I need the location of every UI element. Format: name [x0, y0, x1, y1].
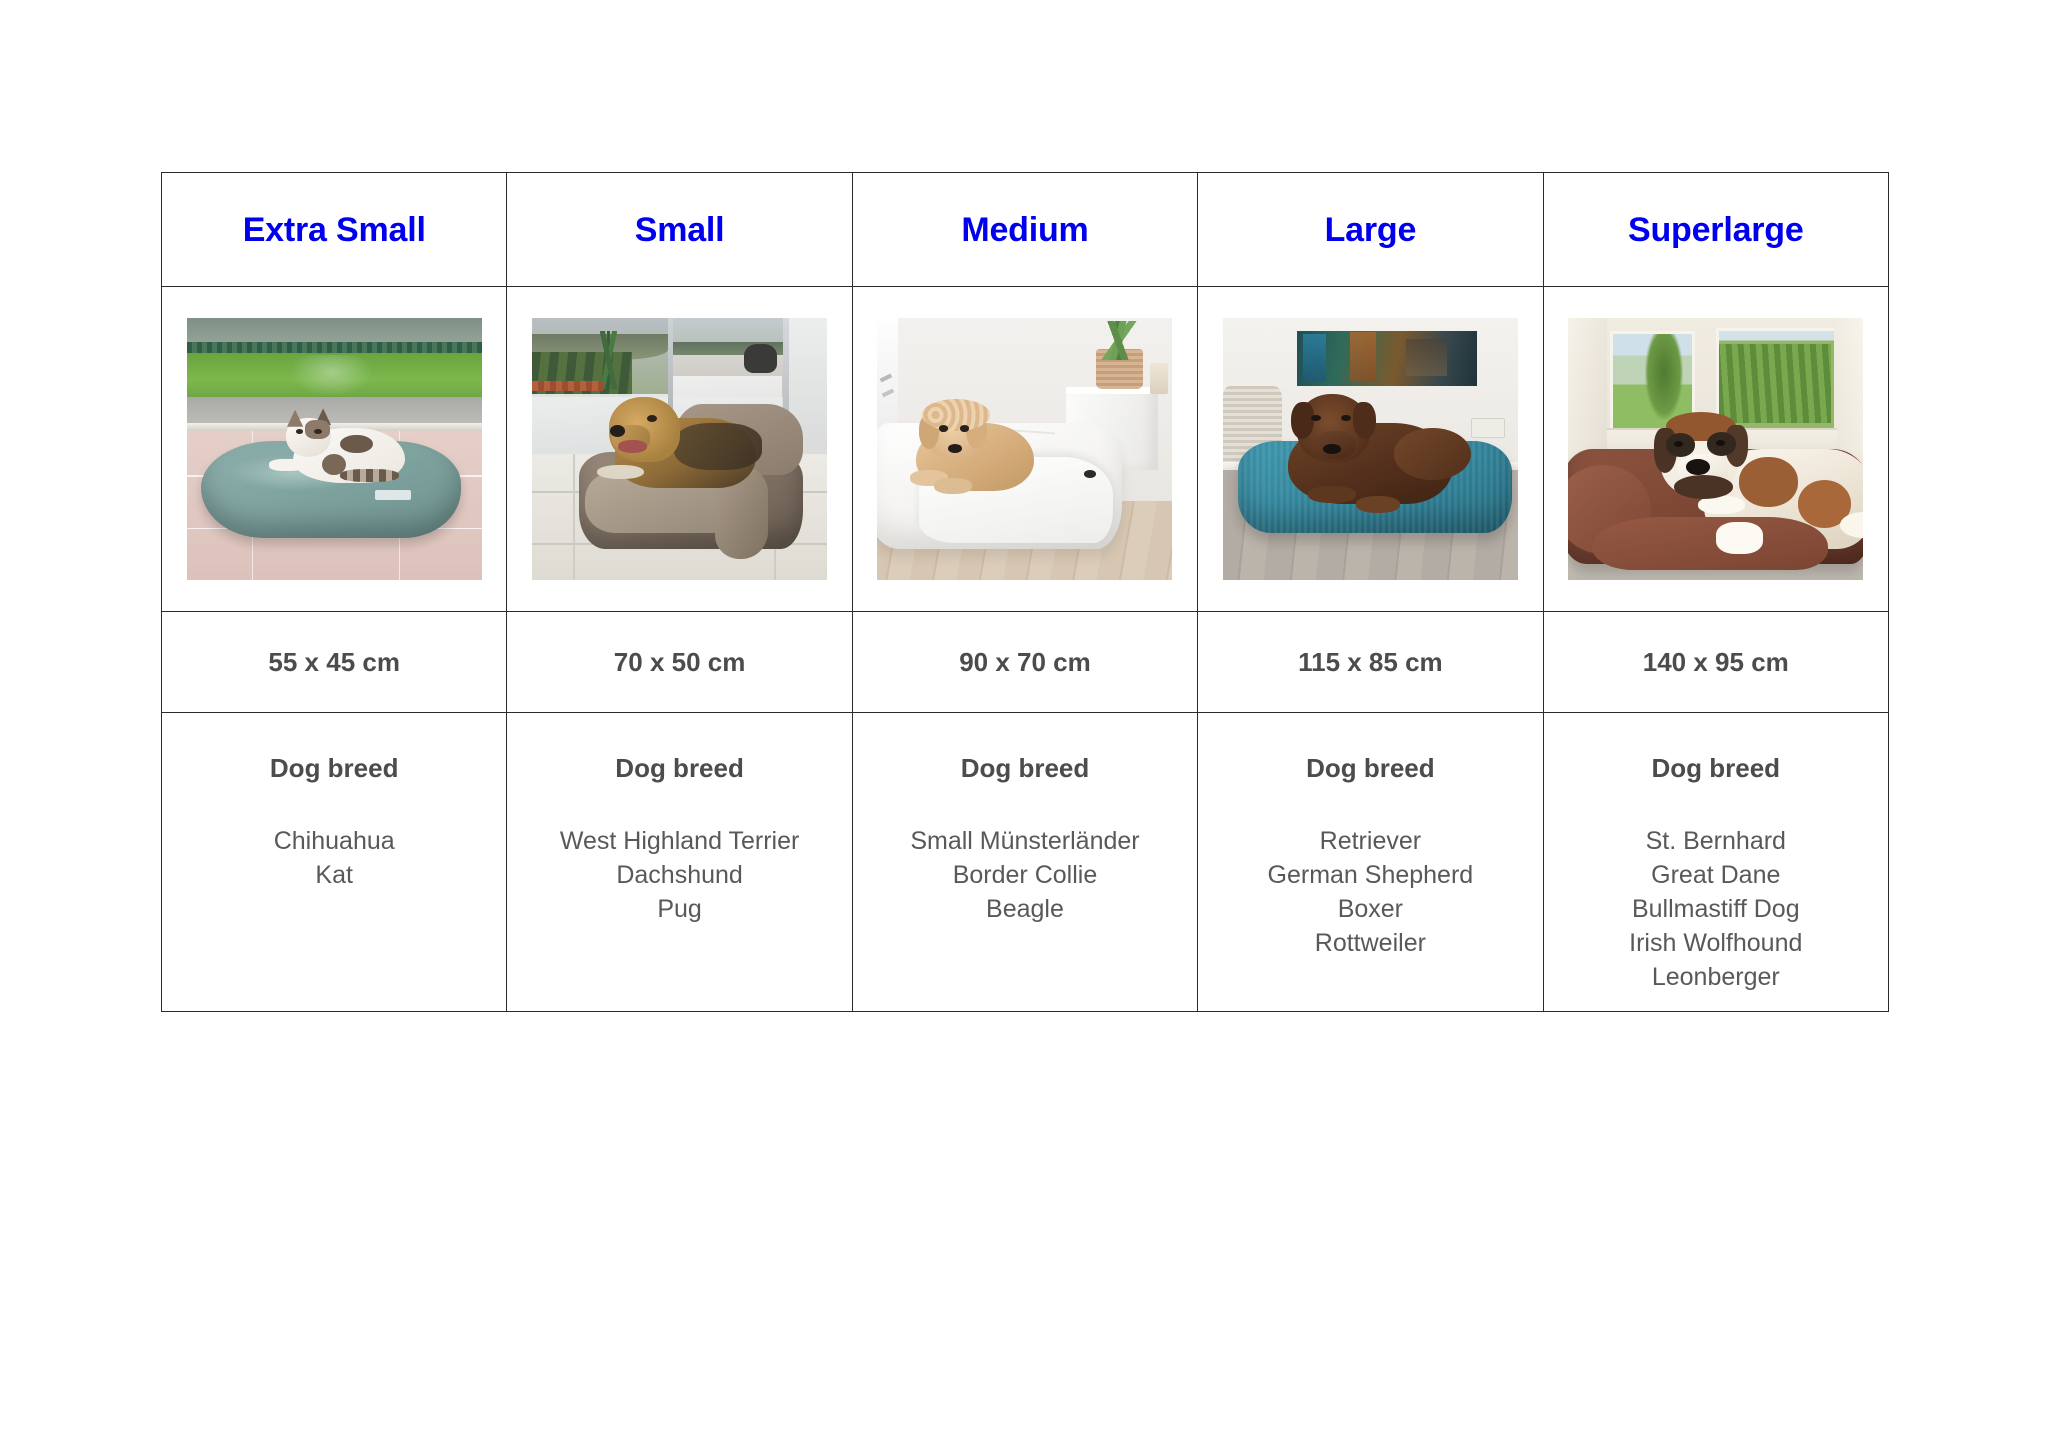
breed-block: Dog breed RetrieverGerman ShepherdBoxerR… [1198, 713, 1542, 960]
photo-cell-large [1198, 287, 1543, 612]
dimensions-label: 115 x 85 cm [1198, 647, 1542, 678]
breed-item: German Shepherd [1198, 858, 1542, 892]
dimensions-cell-superlarge: 140 x 95 cm [1543, 612, 1888, 713]
breed-item: Boxer [1198, 892, 1542, 926]
dimensions-label: 70 x 50 cm [507, 647, 851, 678]
garden-hedge [1719, 344, 1831, 423]
table-header-row: Extra Small Small Medium Large Superlarg… [162, 173, 1889, 287]
dimensions-cell-small: 70 x 50 cm [507, 612, 852, 713]
cat-tail [340, 469, 399, 483]
dog-eye [1716, 440, 1725, 446]
dog-bed-size-table: Extra Small Small Medium Large Superlarg… [161, 172, 1889, 1012]
terrace [187, 397, 482, 426]
puppy-paw [934, 478, 972, 494]
table-dimensions-row: 55 x 45 cm 70 x 50 cm 90 x 70 cm 115 x 8… [162, 612, 1889, 713]
breed-item: Dachshund [507, 858, 851, 892]
product-photo-extra-small [187, 318, 482, 580]
breed-item: Border Collie [853, 858, 1197, 892]
breed-item: Small Münsterländer [853, 824, 1197, 858]
photo-wrapper [507, 287, 851, 611]
photo-cell-medium [852, 287, 1197, 612]
cat-fur-patch [340, 435, 372, 453]
photo-cell-small [507, 287, 852, 612]
dog-paw [597, 465, 644, 479]
bed-button [1084, 470, 1096, 478]
dimensions-cell-large: 115 x 85 cm [1198, 612, 1543, 713]
dog-paw [1698, 496, 1745, 514]
breed-item: Kat [162, 858, 506, 892]
header-cell-medium: Medium [852, 173, 1197, 287]
breed-block: Dog breed St. BernhardGreat DaneBullmast… [1544, 713, 1888, 994]
breed-list: ChihuahuaKat [162, 824, 506, 892]
header-cell-superlarge: Superlarge [1543, 173, 1888, 287]
dimensions-label: 140 x 95 cm [1544, 647, 1888, 678]
dog-paw [1716, 522, 1763, 553]
cat-front-leg [269, 459, 304, 471]
artwork-detail [1350, 332, 1377, 382]
brand-label [375, 490, 410, 500]
dog-fur-patch [1739, 457, 1798, 507]
breed-item: Leonberger [1544, 960, 1888, 994]
dog-jowl [1674, 475, 1733, 499]
dog-paw [1356, 496, 1400, 513]
breeds-cell-medium: Dog breed Small MünsterländerBorder Coll… [852, 713, 1197, 1012]
size-chart-page: Extra Small Small Medium Large Superlarg… [0, 0, 2048, 1448]
product-photo-superlarge [1568, 318, 1863, 580]
breeds-cell-superlarge: Dog breed St. BernhardGreat DaneBullmast… [1543, 713, 1888, 1012]
photo-cell-superlarge [1543, 287, 1888, 612]
size-header-label: Large [1198, 213, 1542, 247]
table-photo-row [162, 287, 1889, 612]
breed-title: Dog breed [1544, 753, 1888, 784]
breed-block: Dog breed West Highland TerrierDachshund… [507, 713, 851, 926]
header-cell-small: Small [507, 173, 852, 287]
rooftop [532, 381, 603, 391]
breeds-cell-large: Dog breed RetrieverGerman ShepherdBoxerR… [1198, 713, 1543, 1012]
breed-list: West Highland TerrierDachshundPug [507, 824, 851, 926]
breed-item: Pug [507, 892, 851, 926]
size-header-label: Small [507, 213, 851, 247]
puppy-eye [939, 425, 948, 431]
size-header-label: Extra Small [162, 213, 506, 247]
breed-item: Bullmastiff Dog [1544, 892, 1888, 926]
glass-reflection [290, 355, 373, 397]
breed-block: Dog breed ChihuahuaKat [162, 713, 506, 892]
breed-item: West Highland Terrier [507, 824, 851, 858]
breed-item: Chihuahua [162, 824, 506, 858]
photo-wrapper [162, 287, 506, 611]
photo-wrapper [1198, 287, 1542, 611]
product-photo-small [532, 318, 827, 580]
table-breeds-row: Dog breed ChihuahuaKat Dog breed West Hi… [162, 713, 1889, 1012]
dog-nose [1323, 444, 1341, 454]
breed-title: Dog breed [162, 753, 506, 784]
dog-haunch [1394, 428, 1471, 480]
puppy-nose [948, 444, 962, 453]
dog-ear [1291, 402, 1315, 439]
breed-title: Dog breed [1198, 753, 1542, 784]
product-photo-large [1223, 318, 1518, 580]
artwork-detail [1303, 334, 1327, 381]
dog-nose [1686, 459, 1710, 475]
artwork-detail [1406, 339, 1447, 376]
product-photo-medium [877, 318, 1172, 580]
dog-ear [1353, 402, 1377, 439]
fern-plant [1075, 321, 1164, 360]
dog-eye [647, 415, 657, 422]
dimensions-cell-medium: 90 x 70 cm [852, 612, 1197, 713]
planter [744, 344, 776, 373]
bed-front-edge [1592, 517, 1828, 569]
dimensions-label: 90 x 70 cm [853, 647, 1197, 678]
breed-title: Dog breed [853, 753, 1197, 784]
breed-item: Rottweiler [1198, 926, 1542, 960]
breed-title: Dog breed [507, 753, 851, 784]
breed-block: Dog breed Small MünsterländerBorder Coll… [853, 713, 1197, 926]
photo-wrapper [853, 287, 1197, 611]
breed-list: RetrieverGerman ShepherdBoxerRottweiler [1198, 824, 1542, 960]
tile-grout-line [573, 454, 575, 580]
wall-socket [1471, 418, 1505, 438]
breed-list: St. BernhardGreat DaneBullmastiff DogIri… [1544, 824, 1888, 994]
size-header-label: Superlarge [1544, 213, 1888, 247]
breed-item: Irish Wolfhound [1544, 926, 1888, 960]
breed-item: Retriever [1198, 824, 1542, 858]
breed-item: Beagle [853, 892, 1197, 926]
dog-open-mouth [618, 440, 648, 453]
breeds-cell-extra-small: Dog breed ChihuahuaKat [162, 713, 507, 1012]
size-header-label: Medium [853, 213, 1197, 247]
breed-item: St. Bernhard [1544, 824, 1888, 858]
dog-saddle-marking [674, 423, 763, 470]
dimensions-cell-extra-small: 55 x 45 cm [162, 612, 507, 713]
dimensions-label: 55 x 45 cm [162, 647, 506, 678]
breeds-cell-small: Dog breed West Highland TerrierDachshund… [507, 713, 852, 1012]
breed-item: Great Dane [1544, 858, 1888, 892]
header-cell-large: Large [1198, 173, 1543, 287]
header-cell-extra-small: Extra Small [162, 173, 507, 287]
photo-cell-extra-small [162, 287, 507, 612]
puppy-eye [960, 425, 969, 431]
dog-paw [1308, 486, 1355, 503]
breed-list: Small MünsterländerBorder CollieBeagle [853, 824, 1197, 926]
garden-tree [1645, 334, 1683, 420]
photo-wrapper [1544, 287, 1888, 611]
candle [1150, 363, 1168, 394]
puppy-curly-fur [922, 399, 990, 430]
